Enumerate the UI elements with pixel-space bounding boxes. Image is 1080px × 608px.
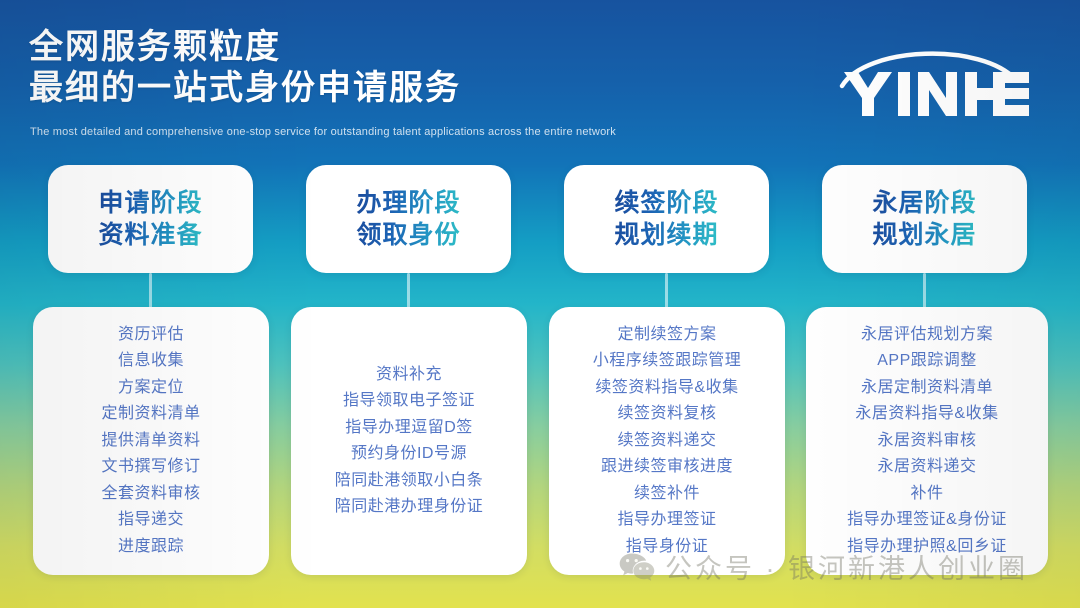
list-item: 续签资料指导&收集 [593, 375, 742, 402]
stage-card-3[interactable]: 续签阶段 规划续期 [564, 165, 769, 273]
list-item: 指导办理逗留D签 [335, 415, 484, 442]
list-item: 方案定位 [101, 375, 200, 402]
connector-line-4 [923, 273, 926, 309]
list-item: 预约身份ID号源 [335, 441, 484, 468]
list-item: 全套资料审核 [101, 481, 200, 508]
list-item: 定制资料清单 [101, 401, 200, 428]
stage-title-3: 续签阶段 规划续期 [614, 187, 718, 251]
list-item: 陪同赴港办理身份证 [335, 494, 484, 521]
list-item: 补件 [847, 481, 1007, 508]
list-item: 跟进续签审核进度 [593, 454, 742, 481]
list-item: 指导办理护照&回乡证 [847, 534, 1007, 561]
list-item: APP跟踪调整 [847, 348, 1007, 375]
list-item: 资料补充 [335, 362, 484, 389]
list-item: 提供清单资料 [101, 428, 200, 455]
list-item: 续签资料复核 [593, 401, 742, 428]
list-item: 指导递交 [101, 507, 200, 534]
list-card-2: 资料补充指导领取电子签证指导办理逗留D签预约身份ID号源陪同赴港领取小白条陪同赴… [291, 307, 527, 575]
page-title: 全网服务颗粒度 最细的一站式身份申请服务 [29, 27, 461, 109]
page-subtitle: The most detailed and comprehensive one-… [30, 126, 616, 138]
list-item: 永居资料审核 [847, 428, 1007, 455]
list-item: 信息收集 [101, 348, 200, 375]
brand-logo [832, 40, 1032, 118]
list-item: 进度跟踪 [101, 534, 200, 561]
stage-title-1: 申请阶段 资料准备 [98, 187, 202, 251]
connector-line-2 [407, 273, 410, 309]
stage-card-2[interactable]: 办理阶段 领取身份 [306, 165, 511, 273]
list-item: 指导办理签证 [593, 507, 742, 534]
list-card-4: 永居评估规划方案APP跟踪调整永居定制资料清单永居资料指导&收集永居资料审核永居… [806, 307, 1048, 575]
list-item: 续签补件 [593, 481, 742, 508]
poster-canvas: 全网服务颗粒度 最细的一站式身份申请服务 The most detailed a… [0, 0, 1080, 608]
list-item: 指导办理签证&身份证 [847, 507, 1007, 534]
list-item: 指导身份证 [593, 534, 742, 561]
list-item: 永居定制资料清单 [847, 375, 1007, 402]
header: 全网服务颗粒度 最细的一站式身份申请服务 The most detailed a… [0, 0, 1080, 150]
list-item: 指导领取电子签证 [335, 388, 484, 415]
list-card-3: 定制续签方案小程序续签跟踪管理续签资料指导&收集续签资料复核续签资料递交跟进续签… [549, 307, 785, 575]
list-item: 永居资料指导&收集 [847, 401, 1007, 428]
list-item: 定制续签方案 [593, 322, 742, 349]
list-item: 小程序续签跟踪管理 [593, 348, 742, 375]
connector-line-1 [149, 273, 152, 309]
list-item: 资历评估 [101, 322, 200, 349]
stage-card-1[interactable]: 申请阶段 资料准备 [48, 165, 253, 273]
connector-line-3 [665, 273, 668, 309]
list-items-2: 资料补充指导领取电子签证指导办理逗留D签预约身份ID号源陪同赴港领取小白条陪同赴… [335, 362, 484, 521]
stage-title-2: 办理阶段 领取身份 [356, 187, 460, 251]
list-item: 续签资料递交 [593, 428, 742, 455]
stage-card-4[interactable]: 永居阶段 规划永居 [822, 165, 1027, 273]
list-card-1: 资历评估信息收集方案定位定制资料清单提供清单资料文书撰写修订全套资料审核指导递交… [33, 307, 269, 575]
list-item: 永居评估规划方案 [847, 322, 1007, 349]
list-item: 文书撰写修订 [101, 454, 200, 481]
list-item: 陪同赴港领取小白条 [335, 468, 484, 495]
list-items-1: 资历评估信息收集方案定位定制资料清单提供清单资料文书撰写修订全套资料审核指导递交… [101, 322, 200, 561]
stage-title-4: 永居阶段 规划永居 [872, 187, 976, 251]
list-item: 永居资料递交 [847, 454, 1007, 481]
list-items-3: 定制续签方案小程序续签跟踪管理续签资料指导&收集续签资料复核续签资料递交跟进续签… [593, 322, 742, 561]
list-items-4: 永居评估规划方案APP跟踪调整永居定制资料清单永居资料指导&收集永居资料审核永居… [847, 322, 1007, 561]
